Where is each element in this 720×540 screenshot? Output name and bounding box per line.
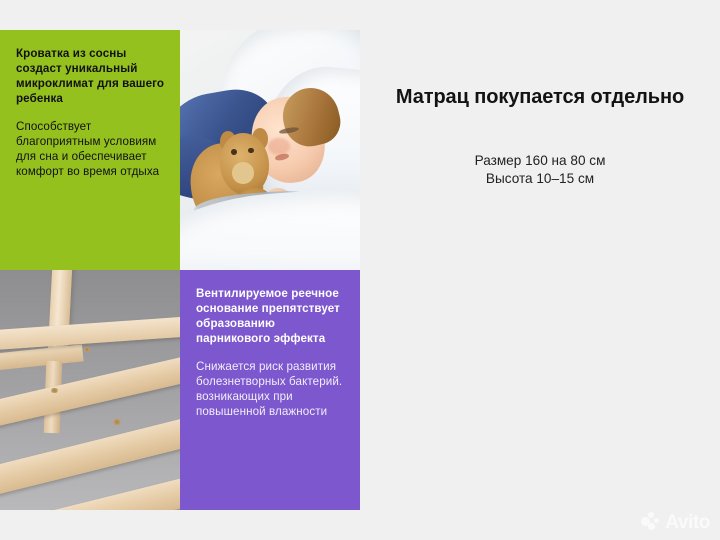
wood-top-rail — [0, 315, 180, 350]
wood-knot-3 — [83, 347, 91, 352]
wood-knot-1 — [50, 388, 59, 393]
wood-knot-2 — [112, 419, 122, 425]
green-panel-lead-text: Кроватка из сосны создаст уникальный мик… — [16, 46, 167, 106]
purple-panel-lead-text: Вентилируемое реечное основание препятст… — [196, 286, 347, 346]
mattress-specs: Размер 160 на 80 см Высота 10–15 см — [360, 152, 720, 188]
green-panel-body-text: Способствует благоприятным условиям для … — [16, 119, 167, 179]
child-cheek — [268, 138, 290, 155]
purple-feature-panel: Вентилируемое реечное основание препятст… — [180, 270, 360, 510]
teddy-eye-left — [231, 149, 237, 155]
slatted-base-photo — [0, 270, 180, 510]
mattress-size-line: Размер 160 на 80 см — [360, 152, 720, 170]
teddy-muzzle — [232, 162, 254, 184]
avito-brand-text: Avito — [665, 513, 710, 532]
green-feature-panel: Кроватка из сосны создаст уникальный мик… — [0, 30, 180, 270]
page-headline: Матрац покупается отдельно — [360, 84, 720, 110]
mattress-height-line: Высота 10–15 см — [360, 170, 720, 188]
purple-panel-body-text: Снижается риск развития болезнетворных б… — [196, 359, 347, 419]
right-content-pane: Матрац покупается отдельно Размер 160 на… — [360, 0, 720, 540]
avito-watermark: Avito — [641, 512, 710, 532]
sleeping-child-photo — [180, 30, 360, 270]
advertisement-image: Кроватка из сосны создаст уникальный мик… — [0, 0, 720, 540]
wood-slat-2 — [0, 408, 180, 496]
avito-dots-icon — [641, 512, 661, 532]
